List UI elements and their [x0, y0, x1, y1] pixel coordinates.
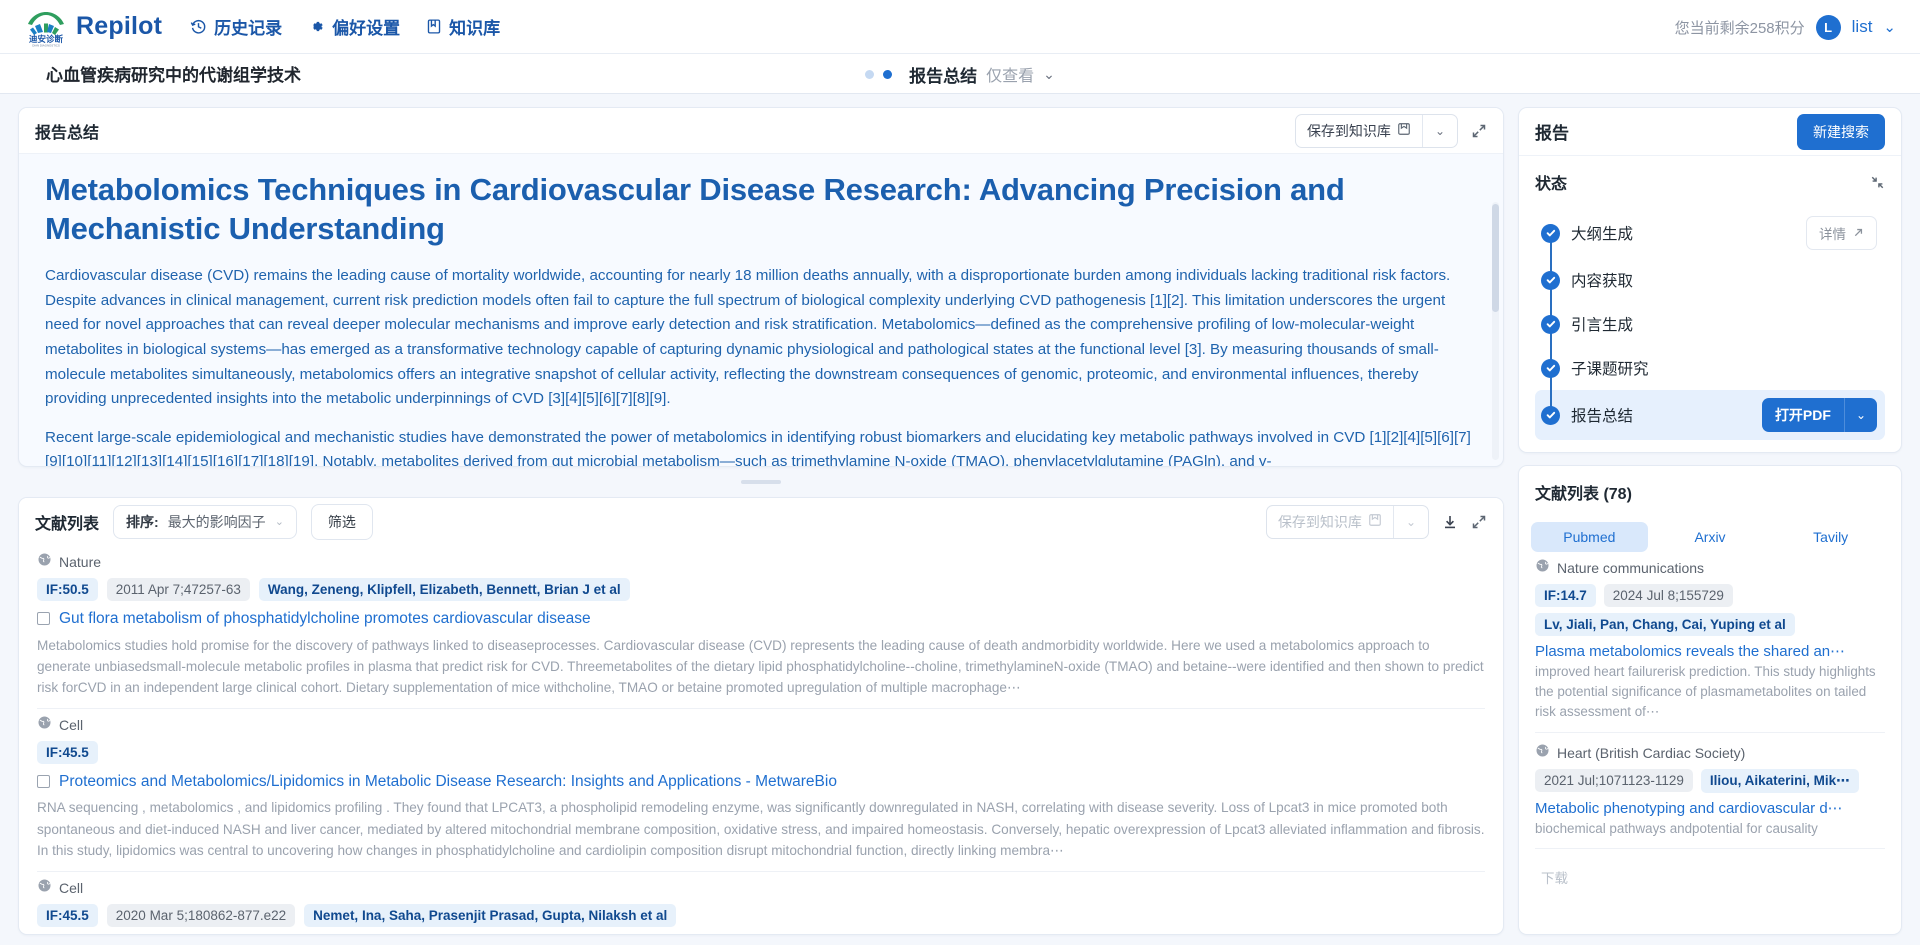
paper-title-link[interactable]: Plasma metabolomics reveals the shared a…	[1535, 642, 1885, 662]
sort-select[interactable]: 排序: 最大的影响因子 ⌄	[113, 505, 297, 539]
nav-item-preferences-label: 偏好设置	[332, 14, 400, 39]
meta-row: IF:45.5	[37, 741, 1485, 764]
sub-header: 心血管疾病研究中的代谢组学技术 报告总结 仅查看 ⌄	[0, 54, 1920, 94]
paper-abstract: biochemical pathways andpotential for ca…	[1535, 819, 1885, 839]
report-card-title: 报告总结	[35, 119, 99, 143]
progress-dot-2	[883, 70, 892, 79]
left-column: 报告总结 保存到知识库 ⌄	[18, 107, 1504, 935]
nav-item-history-label: 历史记录	[214, 14, 282, 39]
literature-list-title: 文献列表	[35, 510, 99, 534]
report-panel-header: 报告 新建搜索	[1519, 108, 1901, 156]
globe-icon	[37, 552, 52, 572]
source-name: Cell	[59, 880, 83, 896]
nav-item-knowledge-base-label: 知识库	[449, 14, 500, 39]
publication-date-badge: 2020 Mar 5;180862-877.e22	[107, 904, 295, 927]
globe-icon	[1535, 558, 1550, 578]
literature-save-options-caret[interactable]: ⌄	[1394, 506, 1428, 538]
source-name: Cell	[59, 717, 83, 733]
status-step-label: 大纲生成	[1571, 222, 1633, 244]
publication-date-badge: 2024 Jul 8;155729	[1604, 584, 1733, 607]
report-heading: Metabolomics Techniques in Cardiovascula…	[45, 170, 1477, 248]
gear-icon	[308, 18, 325, 35]
page-title: 心血管疾病研究中的代谢组学技术	[46, 61, 301, 86]
globe-icon	[37, 715, 52, 735]
list-item: Nature communications IF:14.7 2024 Jul 8…	[1535, 558, 1885, 733]
authors-badge: Nemet, Ina, Saha, Prasenjit Prasad, Gupt…	[304, 904, 676, 927]
svg-text:DIAN DIAGNOSTICS: DIAN DIAGNOSTICS	[32, 43, 60, 47]
open-pdf-options-caret[interactable]: ⌄	[1845, 398, 1877, 432]
chevron-down-icon[interactable]: ⌄	[1043, 66, 1055, 83]
report-status-panel: 报告 新建搜索 状态	[1518, 107, 1902, 453]
download-link[interactable]: 下载	[1535, 859, 1885, 891]
source-row: Nature communications	[1535, 558, 1885, 578]
workspace: 报告总结 保存到知识库 ⌄	[0, 95, 1920, 945]
source-row: Cell	[37, 715, 1485, 735]
right-list-title: 文献列表 (78)	[1535, 486, 1632, 503]
title-row: Gut flora metabolism of phosphatidylchol…	[37, 608, 1485, 630]
chevron-down-icon[interactable]: ⌄	[1883, 18, 1896, 36]
source-row: Heart (British Cardiac Society)	[1535, 743, 1885, 763]
literature-toolbar: 文献列表 排序: 最大的影响因子 ⌄ 筛选 保存到知识库	[19, 498, 1503, 546]
details-button-label: 详情	[1819, 223, 1846, 243]
view-mode-label: 仅查看	[986, 62, 1034, 86]
source-name: Heart (British Cardiac Society)	[1557, 745, 1745, 761]
title-row: Proteomics and Metabolomics/Lipidomics i…	[37, 771, 1485, 793]
username-label[interactable]: list	[1852, 17, 1873, 37]
list-item: Nature IF:50.5 2011 Apr 7;47257-63 Wang,…	[37, 546, 1485, 709]
status-step-label: 引言生成	[1571, 313, 1633, 335]
app-brand-name: Repilot	[76, 12, 162, 41]
status-step-label: 报告总结	[1571, 404, 1633, 426]
literature-save-main[interactable]: 保存到知识库	[1267, 506, 1393, 538]
open-pdf-button[interactable]: 打开PDF ⌄	[1762, 398, 1877, 432]
panel-resize-handle[interactable]	[18, 477, 1504, 487]
impact-factor-badge: IF:14.7	[1535, 584, 1596, 607]
status-steps: 大纲生成 详情	[1535, 208, 1885, 440]
paper-abstract: RNA sequencing , metabolomics , and lipi…	[37, 797, 1485, 860]
literature-list-card: 文献列表 排序: 最大的影响因子 ⌄ 筛选 保存到知识库	[18, 497, 1504, 935]
tab-tavily[interactable]: Tavily	[1772, 522, 1889, 552]
save-to-knowledge-base-button[interactable]: 保存到知识库 ⌄	[1295, 114, 1458, 148]
status-step-action: 详情	[1806, 216, 1877, 250]
right-literature-items: Nature communications IF:14.7 2024 Jul 8…	[1519, 558, 1901, 934]
save-to-knowledge-base-main[interactable]: 保存到知识库	[1296, 115, 1422, 147]
report-scrollbar-thumb[interactable]	[1492, 204, 1499, 312]
impact-factor-badge: IF:45.5	[37, 904, 98, 927]
paper-abstract: improved heart failurerisk prediction. T…	[1535, 662, 1885, 722]
meta-row: IF:50.5 2011 Apr 7;47257-63 Wang, Zeneng…	[37, 578, 1485, 601]
source-row: Nature	[37, 552, 1485, 572]
impact-factor-badge: IF:45.5	[37, 741, 98, 764]
list-item: Cell IF:45.5 Proteomics and Metabolomics…	[37, 709, 1485, 872]
resize-grip	[741, 480, 781, 484]
tab-pubmed[interactable]: Pubmed	[1531, 522, 1648, 552]
details-button[interactable]: 详情	[1806, 216, 1877, 250]
sort-label: 排序:	[126, 512, 159, 532]
report-card-actions: 保存到知识库 ⌄	[1295, 114, 1487, 148]
save-to-knowledge-base-label: 保存到知识库	[1307, 121, 1391, 141]
meta-row: IF:14.7 2024 Jul 8;155729	[1535, 584, 1885, 607]
literature-save-to-knowledge-base-button[interactable]: 保存到知识库 ⌄	[1266, 505, 1429, 539]
select-checkbox[interactable]	[37, 612, 50, 625]
report-paragraph-2: Recent large-scale epidemiological and m…	[45, 426, 1477, 466]
top-navigation-bar: 迪安诊断 DIAN DIAGNOSTICS Repilot 历史记录 偏好设置	[0, 0, 1920, 54]
save-options-caret[interactable]: ⌄	[1423, 115, 1457, 147]
status-step-introduction[interactable]: 引言生成	[1535, 302, 1885, 346]
paper-title-link[interactable]: Gut flora metabolism of phosphatidylchol…	[59, 608, 591, 630]
status-section-header: 状态	[1535, 170, 1885, 194]
source-row: Cell	[37, 878, 1485, 898]
check-icon	[1541, 359, 1560, 378]
status-step-report-summary[interactable]: 报告总结 打开PDF ⌄	[1535, 390, 1885, 440]
publication-date-badge: 2011 Apr 7;47257-63	[107, 578, 250, 601]
save-icon	[1368, 513, 1382, 530]
authors-row: Lv, Jiali, Pan, Chang, Cai, Yuping et al	[1535, 613, 1885, 636]
source-name: Nature communications	[1557, 560, 1704, 576]
meta-row: IF:45.5 2020 Mar 5;180862-877.e22 Nemet,…	[37, 904, 1485, 927]
literature-toolbar-actions: 保存到知识库 ⌄	[1266, 505, 1487, 539]
impact-factor-badge: IF:50.5	[37, 578, 98, 601]
meta-row: 2021 Jul;1071123-1129 Iliou, Aikaterini,…	[1535, 769, 1885, 793]
save-icon	[1397, 122, 1411, 139]
status-step-label: 子课题研究	[1571, 357, 1649, 379]
progress-dot-1	[865, 70, 874, 79]
nav-item-history[interactable]: 历史记录	[190, 14, 282, 39]
right-list-header: 文献列表 (78)	[1519, 466, 1901, 512]
report-card-toolbar: 报告总结 保存到知识库 ⌄	[19, 108, 1503, 154]
new-search-button[interactable]: 新建搜索	[1797, 114, 1885, 150]
collapse-icon[interactable]	[1870, 175, 1885, 190]
paper-title-link[interactable]: Proteomics and Metabolomics/Lipidomics i…	[59, 771, 837, 793]
expand-icon[interactable]	[1471, 514, 1487, 530]
literature-save-label: 保存到知识库	[1278, 512, 1362, 532]
download-icon[interactable]	[1442, 514, 1458, 530]
status-step-label: 内容获取	[1571, 269, 1633, 291]
book-icon	[426, 18, 442, 35]
publication-date-badge: 2021 Jul;1071123-1129	[1535, 769, 1693, 792]
status-step-action: 打开PDF ⌄	[1762, 398, 1877, 432]
nav-item-knowledge-base[interactable]: 知识库	[426, 14, 500, 39]
list-item: Heart (British Cardiac Society) 2021 Jul…	[1535, 743, 1885, 849]
brand-logo[interactable]: 迪安诊断 DIAN DIAGNOSTICS	[22, 7, 70, 47]
status-step-outline[interactable]: 大纲生成 详情	[1535, 208, 1885, 258]
status-section: 状态 大纲生成	[1519, 156, 1901, 452]
paper-title-link[interactable]: Metabolic phenotyping and cardiovascular…	[1535, 799, 1885, 819]
current-view-label: 报告总结	[909, 62, 977, 87]
literature-list: Nature IF:50.5 2011 Apr 7;47257-63 Wang,…	[19, 546, 1503, 934]
sort-value: 最大的影响因子	[168, 512, 266, 532]
source-tabs: Pubmed Arxiv Tavily	[1519, 512, 1901, 558]
paper-abstract: Metabolomics studies hold promise for th…	[37, 635, 1485, 698]
list-item: Cell IF:45.5 2020 Mar 5;180862-877.e22 N…	[37, 872, 1485, 934]
report-paragraph-1: Cardiovascular disease (CVD) remains the…	[45, 264, 1477, 412]
check-icon	[1541, 224, 1560, 243]
account-area: 您当前剩余258积分 L list ⌄	[1675, 0, 1896, 54]
right-literature-list-card: 文献列表 (78) Pubmed Arxiv Tavily	[1518, 465, 1902, 935]
history-icon	[190, 18, 207, 35]
select-checkbox[interactable]	[37, 775, 50, 788]
source-name: Nature	[59, 554, 101, 570]
status-step-subtopic-research[interactable]: 子课题研究	[1535, 346, 1885, 390]
arrow-up-right-icon	[1853, 226, 1864, 241]
status-title: 状态	[1535, 170, 1567, 194]
globe-icon	[1535, 743, 1550, 763]
status-step-content-fetch[interactable]: 内容获取	[1535, 258, 1885, 302]
authors-badge: Iliou, Aikaterini, Mik⋯	[1701, 769, 1859, 793]
check-icon	[1541, 315, 1560, 334]
dian-diagnostics-logo-icon: 迪安诊断 DIAN DIAGNOSTICS	[22, 7, 70, 47]
tab-arxiv[interactable]: Arxiv	[1652, 522, 1769, 552]
expand-icon[interactable]	[1471, 123, 1487, 139]
report-body: Metabolomics Techniques in Cardiovascula…	[19, 154, 1503, 466]
nav-item-preferences[interactable]: 偏好设置	[308, 14, 400, 39]
filter-button[interactable]: 筛选	[311, 504, 373, 540]
globe-icon	[37, 878, 52, 898]
credits-label: 您当前剩余258积分	[1675, 17, 1805, 38]
avatar[interactable]: L	[1816, 15, 1841, 40]
open-pdf-label[interactable]: 打开PDF	[1762, 398, 1844, 432]
check-icon	[1541, 406, 1560, 425]
right-column: 报告 新建搜索 状态	[1518, 107, 1902, 935]
primary-nav-links: 历史记录 偏好设置 知识库	[190, 14, 500, 39]
report-summary-card: 报告总结 保存到知识库 ⌄	[18, 107, 1504, 467]
report-scrollbar[interactable]	[1492, 202, 1499, 460]
authors-badge: Wang, Zeneng, Klipfell, Elizabeth, Benne…	[259, 578, 630, 601]
report-panel-title: 报告	[1535, 119, 1569, 144]
chevron-down-icon: ⌄	[275, 515, 284, 528]
authors-badge: Lv, Jiali, Pan, Chang, Cai, Yuping et al	[1535, 613, 1795, 636]
check-icon	[1541, 271, 1560, 290]
